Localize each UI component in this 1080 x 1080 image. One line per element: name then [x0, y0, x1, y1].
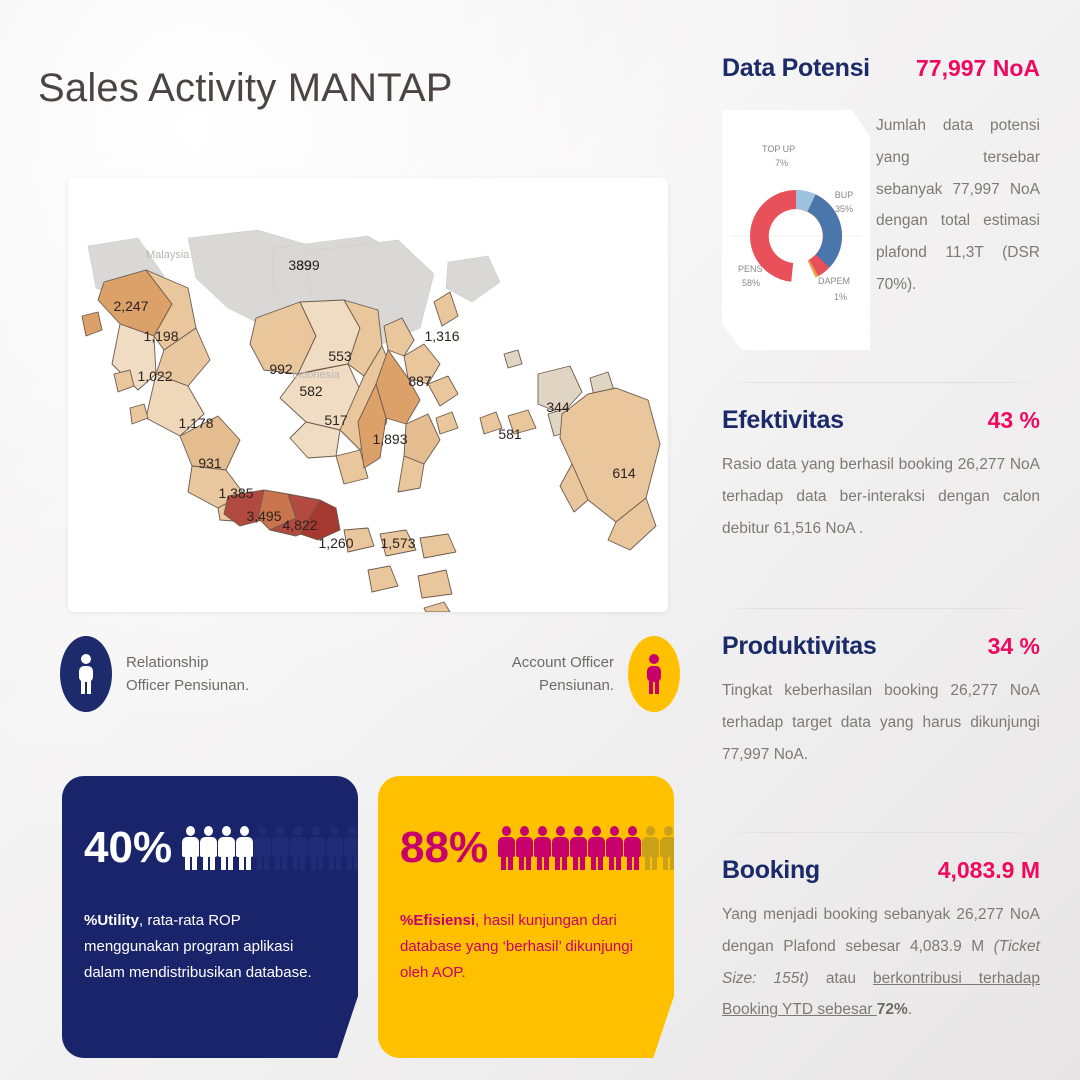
person-icon-empty: [642, 826, 659, 870]
section-value-efektivitas: 43 %: [988, 407, 1040, 434]
map-value-label: 614: [612, 465, 636, 481]
person-icon-empty: [344, 826, 358, 870]
person-icon-empty: [272, 826, 289, 870]
section-value-data-potensi: 77,997 NoA: [916, 55, 1040, 82]
donut-label-topup-name: TOP UP: [762, 144, 795, 154]
donut-label-pens-name: PENS: [738, 264, 763, 274]
legend-label-line2: Pensiunan.: [512, 674, 614, 697]
person-icon-filled: [516, 826, 533, 870]
legend-label-line1: Relationship: [126, 651, 249, 674]
section-body-efektivitas: Rasio data yang berhasil booking 26,277 …: [722, 449, 1040, 544]
booking-text-1: Yang menjadi booking sebanyak 26,277 NoA…: [722, 906, 1040, 955]
people-pictogram-utility: [182, 826, 358, 870]
section-body-produktivitas: Tingkat keberhasilan booking 26,277 NoA …: [722, 675, 1040, 770]
booking-text-2: atau: [809, 970, 873, 987]
section-value-booking: 4,083.9 M: [938, 857, 1040, 884]
person-icon: [75, 653, 97, 695]
person-icon: [643, 653, 665, 695]
indonesia-map-card: Malaysia Indonesia 3893992,2471,1981,022…: [68, 178, 668, 612]
map-country-label-malaysia: Malaysia: [146, 249, 190, 261]
section-body-booking: Yang menjadi booking sebanyak 26,277 NoA…: [722, 899, 1040, 1026]
booking-text-3: .: [908, 1001, 912, 1018]
utility-description: %Utility, rata-rata ROP menggunakan prog…: [62, 908, 358, 985]
person-icon-filled: [570, 826, 587, 870]
map-value-label: 1,573: [380, 535, 415, 551]
map-value-label: 3,495: [246, 508, 281, 524]
divider: [722, 608, 1040, 609]
donut-label-pens-value: 58%: [742, 278, 760, 288]
divider: [722, 382, 1040, 383]
section-title-data-potensi: Data Potensi: [722, 54, 870, 83]
donut-label-bup-value: 35%: [835, 204, 853, 214]
legend-item-relationship-officer: Relationship Officer Pensiunan.: [60, 636, 249, 712]
map-value-label: 517: [324, 412, 348, 428]
section-booking: Booking 4,083.9 M Yang menjadi booking s…: [722, 856, 1040, 1026]
map-value-label: 1,178: [178, 415, 213, 431]
donut-label-bup-name: BUP: [835, 190, 854, 200]
stat-card-efisiensi: 88% %Efisiensi, hasil kunjungan dari dat…: [378, 776, 674, 1058]
person-icon-empty: [254, 826, 271, 870]
section-body-data-potensi: Jumlah data potensi yang tersebar sebany…: [876, 110, 1040, 301]
person-icon-filled: [498, 826, 515, 870]
section-efektivitas: Efektivitas 43 % Rasio data yang berhasi…: [722, 406, 1040, 544]
person-icon-filled: [624, 826, 641, 870]
person-icon-filled: [606, 826, 623, 870]
legend-label-line1: Account Officer: [512, 651, 614, 674]
map-value-label: 1,198: [143, 328, 178, 344]
person-icon-filled: [534, 826, 551, 870]
person-icon-filled: [200, 826, 217, 870]
map-value-label: 344: [546, 399, 570, 415]
map-legend: Relationship Officer Pensiunan. Account …: [55, 630, 675, 740]
map-value-label: 1,893: [372, 431, 407, 447]
map-value-label: 399: [296, 257, 320, 273]
donut-chart-card: TOP UP 7% BUP 35% PENS 58% DAPEM 1%: [722, 110, 870, 350]
infographic-page: Sales Activity MANTAP: [0, 0, 1080, 1080]
person-icon-filled: [552, 826, 569, 870]
people-pictogram-efisiensi: [498, 826, 674, 870]
section-value-produktivitas: 34 %: [988, 633, 1040, 660]
person-icon-filled: [236, 826, 253, 870]
utility-percent: 40%: [84, 826, 172, 870]
map-value-label: 1,316: [424, 328, 459, 344]
map-value-label: 992: [269, 361, 293, 377]
donut-label-topup-value: 7%: [775, 158, 788, 168]
person-icon-badge-gold: [628, 636, 680, 712]
section-produktivitas: Produktivitas 34 % Tingkat keberhasilan …: [722, 632, 1040, 770]
person-icon-filled: [588, 826, 605, 870]
map-value-label: 887: [408, 373, 432, 389]
booking-ytd-percent: 72%: [877, 1001, 908, 1018]
utility-description-bold: %Utility: [84, 912, 139, 929]
page-title: Sales Activity MANTAP: [38, 66, 453, 111]
donut-label-dapem-value: 1%: [834, 292, 847, 302]
map-value-label: 1,260: [318, 535, 353, 551]
person-icon-empty: [326, 826, 343, 870]
map-value-label: 582: [299, 383, 323, 399]
donut-label-dapem-name: DAPEM: [818, 276, 850, 286]
person-icon-filled: [218, 826, 235, 870]
stat-card-utility: 40% %Utility, rata-rata ROP menggunakan …: [62, 776, 358, 1058]
person-icon-empty: [660, 826, 674, 870]
legend-label-line2: Officer Pensiunan.: [126, 674, 249, 697]
person-icon-empty: [290, 826, 307, 870]
map-value-label: 1,022: [137, 368, 172, 384]
section-data-potensi: Data Potensi 77,997 NoA: [722, 54, 1040, 83]
section-title-produktivitas: Produktivitas: [722, 632, 876, 661]
efisiensi-percent: 88%: [400, 826, 488, 870]
map-value-label: 931: [198, 455, 222, 471]
efisiensi-description-bold: %Efisiensi: [400, 912, 475, 929]
section-title-booking: Booking: [722, 856, 820, 885]
map-value-label: 2,247: [113, 298, 148, 314]
map-value-label: 581: [498, 426, 522, 442]
map-value-label: 553: [328, 348, 352, 364]
divider: [722, 832, 1040, 833]
metrics-panel: Data Potensi 77,997 NoA TOP UP 7%: [700, 0, 1080, 1080]
map-country-label-indonesia: Indonesia: [292, 369, 341, 381]
map-value-label: 4,822: [282, 517, 317, 533]
legend-item-account-officer: Account Officer Pensiunan.: [385, 636, 680, 712]
map-value-label: 1,385: [218, 485, 253, 501]
person-icon-filled: [182, 826, 199, 870]
person-icon-empty: [308, 826, 325, 870]
person-icon-badge-navy: [60, 636, 112, 712]
efisiensi-description: %Efisiensi, hasil kunjungan dari databas…: [378, 908, 674, 985]
section-title-efektivitas: Efektivitas: [722, 406, 844, 435]
